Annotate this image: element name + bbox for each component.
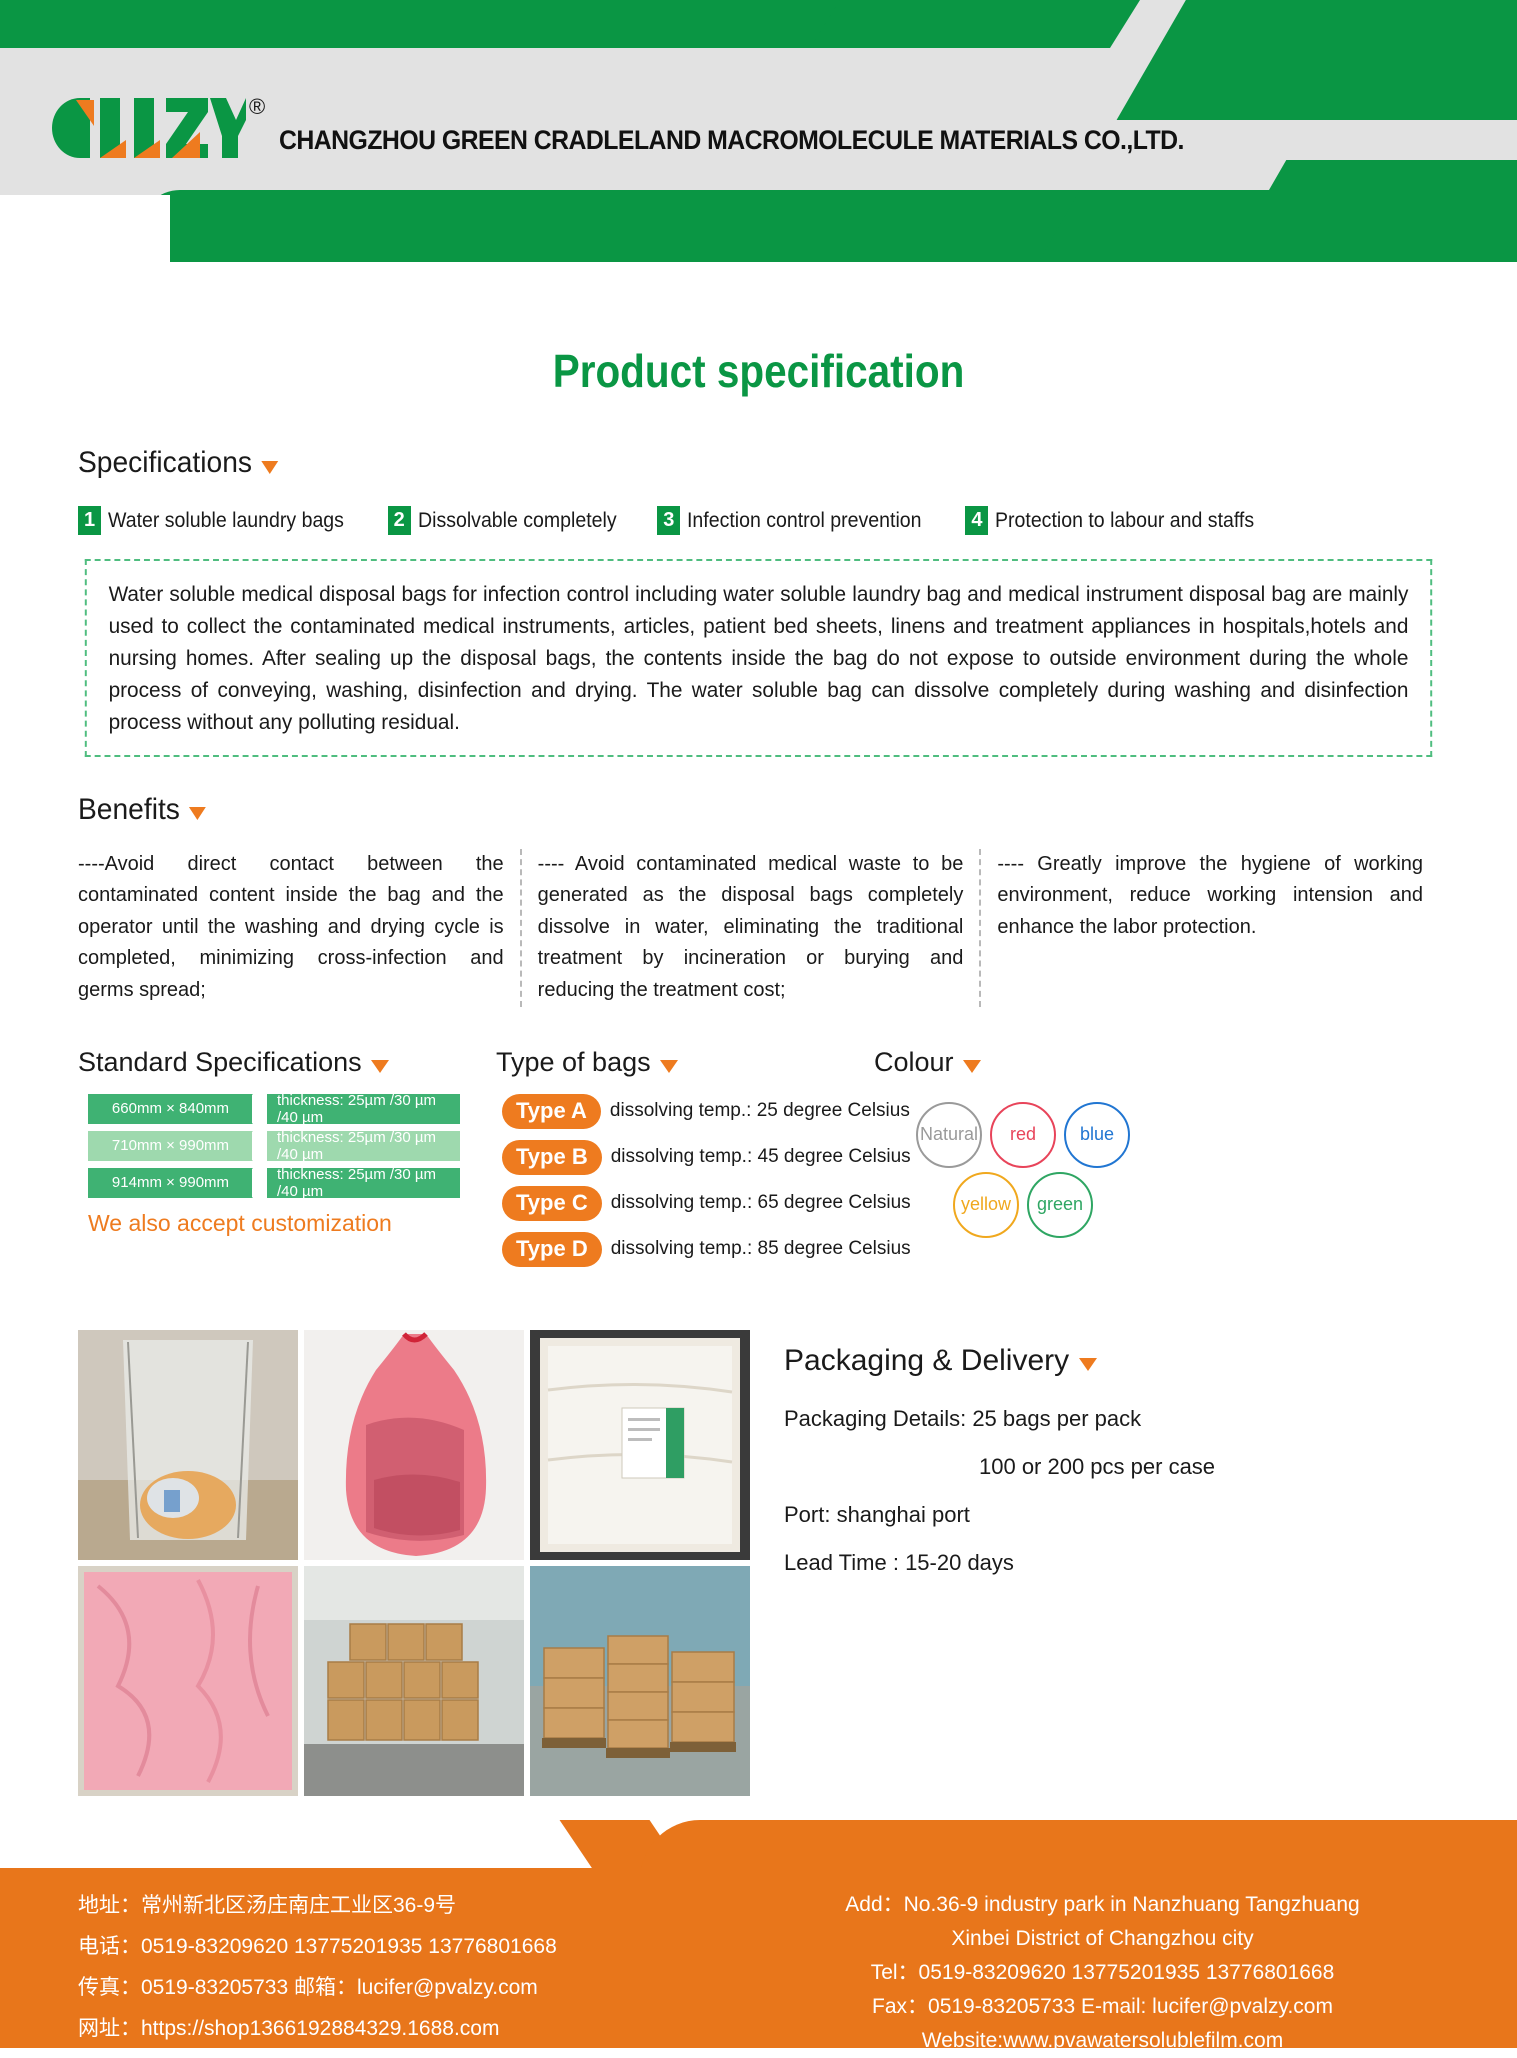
packaging-line: Port: shanghai port [784,1502,1439,1528]
type-of-bags-heading-label: Type of bags [496,1047,651,1078]
packaging-line: Lead Time : 15-20 days [784,1550,1439,1576]
benefits-columns: ----Avoid direct contact between the con… [78,849,1439,1007]
header-green-band-slant [1034,190,1517,262]
spec-item-label: Water soluble laundry bags [108,509,344,533]
footer-tel-cn: 电话：0519-83209620 13775201935 13776801668 [78,1927,728,1968]
header-white-notch [0,195,170,262]
colour-section: Colour Natural red blue yellow green [874,1047,1439,1278]
header-green-band [140,190,1140,262]
type-description: dissolving temp.: 65 degree Celsius [611,1192,911,1214]
gallery-image-red-bag-with-laundry [304,1330,524,1560]
triangle-down-icon [261,461,278,474]
spec-size-label: 914mm × 990mm [88,1168,253,1198]
footer-contact-chinese: 地址：常州新北区汤庄南庄工业区36-9号 电话：0519-83209620 13… [78,1886,728,2036]
gallery-image-clear-bag-in-frame [78,1330,298,1560]
standard-spec-row: 914mm × 990mm thickness: 25µm /30 µm /40… [88,1168,460,1198]
packaging-line: Packaging Details: 25 bags per pack [784,1406,1439,1432]
type-description: dissolving temp.: 25 degree Celsius [610,1100,910,1122]
type-of-bags-heading: Type of bags [496,1047,856,1078]
footer-fax-email-cn: 传真：0519-83205733 邮箱：lucifer@pvalzy.com [78,1968,728,2009]
standard-spec-row: 660mm × 840mm thickness: 25µm /30 µm /40… [88,1094,460,1124]
specifications-heading-label: Specifications [78,446,252,480]
type-pill: Type A [502,1094,601,1129]
page-body: Product specification Specifications 1 W… [0,344,1517,1796]
specifications-description: Water soluble medical disposal bags for … [85,559,1432,757]
type-pill: Type D [502,1232,602,1267]
benefit-column: ---- Greatly improve the hygiene of work… [979,849,1439,1007]
brand-row: ® CHANGZHOU GREEN CRADLELAND MACROMOLECU… [50,100,1263,158]
cllzy-logo-icon: ® [50,100,265,158]
type-row: Type B dissolving temp.: 45 degree Celsi… [502,1140,856,1175]
packaging-heading: Packaging & Delivery [784,1344,1439,1378]
triangle-down-icon [189,807,206,820]
spec-number-badge: 4 [965,506,988,535]
type-row: Type D dissolving temp.: 85 degree Celsi… [502,1232,856,1267]
type-row: Type A dissolving temp.: 25 degree Celsi… [502,1094,856,1129]
triangle-down-icon [1079,1358,1097,1371]
spec-number-badge: 3 [657,506,680,535]
spec-item-label: Protection to labour and staffs [995,509,1254,533]
gallery-image-pallets-in-warehouse [530,1566,750,1796]
type-of-bags-section: Type of bags Type A dissolving temp.: 25… [496,1047,856,1278]
benefits-section: Benefits ----Avoid direct contact betwee… [78,793,1517,1007]
colour-swatch-natural: Natural [916,1102,982,1168]
colour-swatch-label: red [1010,1124,1036,1145]
benefits-heading: Benefits [78,793,1431,827]
spec-item: 3 Infection control prevention [657,506,939,535]
colour-swatch-yellow: yellow [953,1172,1019,1238]
colour-swatches: Natural red blue yellow green [916,1094,1439,1244]
benefits-heading-label: Benefits [78,793,180,827]
footer-address-en-1: Add：No.36-9 industry park in Nanzhuang T… [728,1888,1477,1922]
type-description: dissolving temp.: 45 degree Celsius [611,1146,911,1168]
spec-size-label: 710mm × 990mm [88,1131,253,1161]
company-name: CHANGZHOU GREEN CRADLELAND MACROMOLECULE… [279,125,1184,158]
colour-heading-label: Colour [874,1047,954,1078]
triangle-down-icon [371,1060,389,1073]
page-title: Product specification [91,344,1426,398]
specifications-items: 1 Water soluble laundry bags 2 Dissolvab… [78,506,1517,535]
colour-swatch-red: red [990,1102,1056,1168]
spec-item-label: Infection control prevention [687,509,922,533]
benefit-column: ---- Avoid contaminated medical waste to… [520,849,980,1007]
registered-trademark-icon: ® [249,94,265,120]
specifications-section: Specifications 1 Water soluble laundry b… [78,446,1517,535]
type-pill: Type B [502,1140,602,1175]
gallery-image-packed-bags-in-carton [530,1330,750,1560]
logo-letterforms-icon [50,98,246,158]
chevron-left-icon [252,1131,267,1161]
spec-number-badge: 1 [78,506,101,535]
standard-specifications-section: Standard Specifications 660mm × 840mm th… [78,1047,478,1278]
spec-thickness-label: thickness: 25µm /30 µm /40 µm [267,1168,460,1198]
header-green-top-bar [0,0,900,48]
standard-spec-row: 710mm × 990mm thickness: 25µm /30 µm /40… [88,1131,460,1161]
type-description: dissolving temp.: 85 degree Celsius [611,1238,911,1260]
page-header: ® CHANGZHOU GREEN CRADLELAND MACROMOLECU… [0,0,1517,262]
triangle-down-icon [963,1060,981,1073]
footer-address-en-2: Xinbei District of Changzhou city [728,1922,1477,1956]
footer-address-cn: 地址：常州新北区汤庄南庄工业区36-9号 [78,1886,728,1927]
type-pill: Type C [502,1186,602,1221]
header-green-top-bar-slant [810,0,1140,48]
colour-swatch-label: yellow [961,1194,1011,1215]
gallery-and-packaging: Packaging & Delivery Packaging Details: … [78,1330,1439,1796]
spec-thickness-label: thickness: 25µm /30 µm /40 µm [267,1094,460,1124]
specifications-heading: Specifications [78,446,1431,480]
colour-heading: Colour [874,1047,1439,1078]
colour-swatch-label: Natural [920,1124,978,1145]
standard-specifications-heading-label: Standard Specifications [78,1047,362,1078]
spec-item: 2 Dissolvable completely [388,506,632,535]
product-gallery [78,1330,750,1796]
gallery-image-pink-flat-bag [78,1566,298,1796]
colour-swatch-blue: blue [1064,1102,1130,1168]
chevron-left-icon [252,1168,267,1198]
packaging-heading-label: Packaging & Delivery [784,1344,1069,1378]
chevron-left-icon [252,1094,267,1124]
spec-item: 1 Water soluble laundry bags [78,506,362,535]
footer-fax-email-en: Fax：0519-83205733 E-mail: lucifer@pvalzy… [728,1990,1477,2024]
triangle-down-icon [660,1060,678,1073]
footer-website-cn[interactable]: 网址：https://shop1366192884329.1688.com [78,2009,728,2050]
spec-number-badge: 2 [388,506,411,535]
colour-swatch-green: green [1027,1172,1093,1238]
packaging-line: 100 or 200 pcs per case [979,1454,1439,1480]
footer-contact-english: Add：No.36-9 industry park in Nanzhuang T… [728,1886,1477,2036]
standard-specifications-heading: Standard Specifications [78,1047,478,1078]
colour-swatch-label: blue [1080,1124,1114,1145]
footer-website-en[interactable]: Website:www.pvawatersolublefilm.com [728,2024,1477,2058]
spec-item: 4 Protection to labour and staffs [965,506,1274,535]
footer-columns: 地址：常州新北区汤庄南庄工业区36-9号 电话：0519-83209620 13… [0,1868,1517,2048]
benefit-column: ----Avoid direct contact between the con… [78,849,520,1007]
feature-row: Standard Specifications 660mm × 840mm th… [78,1047,1439,1278]
packaging-delivery-section: Packaging & Delivery Packaging Details: … [784,1330,1439,1796]
page-footer: 地址：常州新北区汤庄南庄工业区36-9号 电话：0519-83209620 13… [0,1826,1517,2048]
spec-thickness-label: thickness: 25µm /30 µm /40 µm [267,1131,460,1161]
colour-swatch-label: green [1037,1194,1083,1215]
spec-size-label: 660mm × 840mm [88,1094,253,1124]
spec-item-label: Dissolvable completely [418,509,617,533]
type-row: Type C dissolving temp.: 65 degree Celsi… [502,1186,856,1221]
customization-note: We also accept customization [88,1210,478,1237]
gallery-image-cartons-in-container [304,1566,524,1796]
footer-tel-en: Tel：0519-83209620 13775201935 1377680166… [728,1956,1477,1990]
